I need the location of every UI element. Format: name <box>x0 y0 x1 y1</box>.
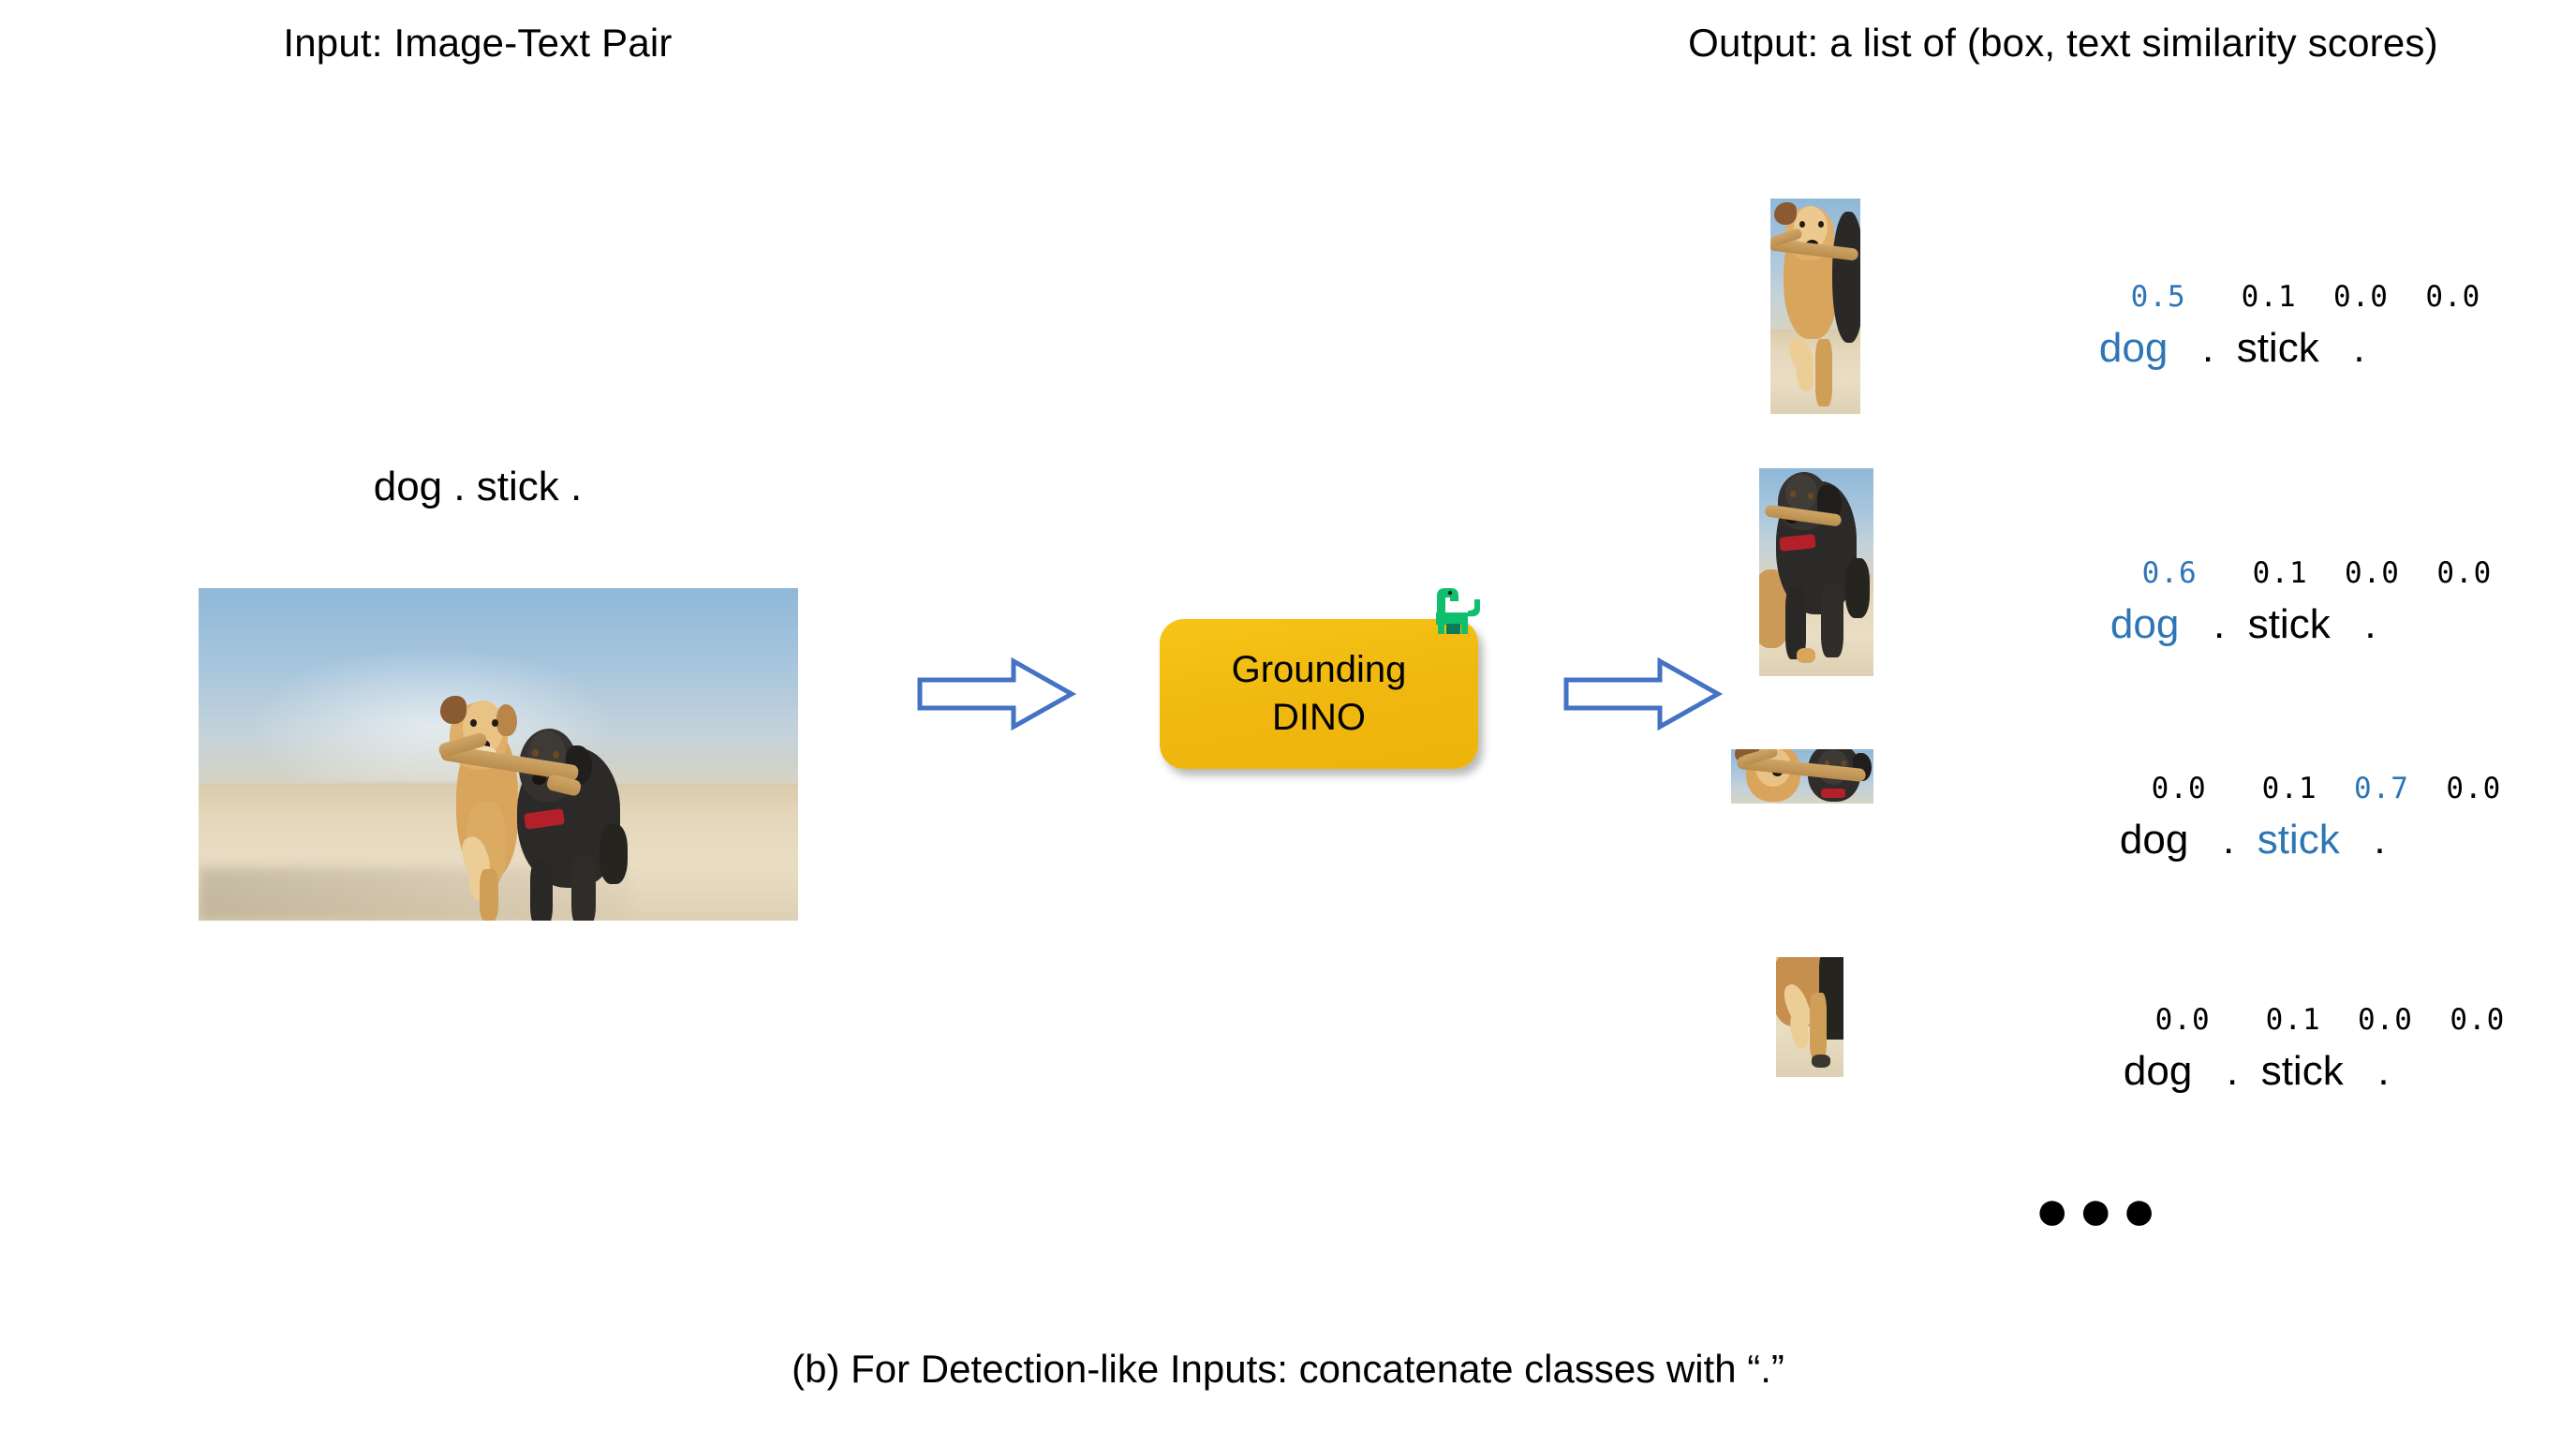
dinosaur-icon <box>1428 583 1486 641</box>
token: dog <box>2120 817 2188 863</box>
score-value: 0.1 <box>2266 1003 2321 1037</box>
score-value: 0.1 <box>2242 280 2297 314</box>
token-row: dog . stick . <box>2065 554 2376 695</box>
score-value: 0.0 <box>2446 772 2501 805</box>
output-crop-image <box>1776 957 1843 1077</box>
token: . <box>2227 1048 2238 1094</box>
input-text-prompt: dog . stick . <box>0 464 955 510</box>
token: dog <box>2099 325 2168 371</box>
arrow-input-to-model <box>916 656 1077 732</box>
token: stick <box>2258 817 2340 863</box>
similarity-scores: 0.5 0.1 0.0 0.0 <box>2057 246 2480 347</box>
token: . <box>2202 325 2213 371</box>
token: dog <box>2110 601 2179 647</box>
score-value: 0.0 <box>2345 556 2400 590</box>
score-value: 0.0 <box>2358 1003 2413 1037</box>
score-value: 0.0 <box>2450 1003 2505 1037</box>
more-results-ellipsis: ●●● <box>2035 1182 2165 1240</box>
token: . <box>2377 1048 2389 1094</box>
score-value: 0.1 <box>2253 556 2308 590</box>
figure-caption: (b) For Detection-like Inputs: concatena… <box>0 1347 2576 1392</box>
score-value: 0.0 <box>2425 280 2480 314</box>
token: . <box>2374 817 2385 863</box>
token-row: dog . stick . <box>2074 770 2386 910</box>
input-image <box>199 588 798 921</box>
score-value: 0.5 <box>2131 280 2186 314</box>
output-crop-image <box>1731 749 1873 804</box>
output-title: Output: a list of (box, text similarity … <box>1574 21 2553 66</box>
score-value: 0.0 <box>2152 772 2207 805</box>
token: . <box>2223 817 2234 863</box>
similarity-scores: 0.6 0.1 0.0 0.0 <box>2068 523 2492 624</box>
token: dog <box>2124 1048 2192 1094</box>
similarity-scores: 0.0 0.1 0.0 0.0 <box>2081 969 2505 1070</box>
token-row: dog . stick . <box>2078 1001 2390 1142</box>
token-row: dog . stick . <box>2053 278 2365 419</box>
score-value: 0.1 <box>2262 772 2317 805</box>
output-crop-image <box>1759 468 1873 676</box>
token: stick <box>2237 325 2319 371</box>
token: stick <box>2248 601 2331 647</box>
similarity-scores: 0.0 0.1 0.7 0.0 <box>2078 738 2501 839</box>
score-value: 0.0 <box>2155 1003 2211 1037</box>
token: . <box>2353 325 2364 371</box>
score-value: 0.7 <box>2354 772 2409 805</box>
token: . <box>2364 601 2376 647</box>
grounding-dino-model-box[interactable]: Grounding DINO <box>1160 619 1478 769</box>
score-value: 0.0 <box>2436 556 2492 590</box>
score-value: 0.0 <box>2333 280 2389 314</box>
input-title: Input: Image-Text Pair <box>0 21 955 66</box>
arrow-model-to-output <box>1562 656 1724 732</box>
output-crop-image <box>1770 199 1860 414</box>
token: . <box>2213 601 2225 647</box>
score-value: 0.6 <box>2142 556 2198 590</box>
token: stick <box>2261 1048 2344 1094</box>
model-label: Grounding DINO <box>1232 646 1407 742</box>
